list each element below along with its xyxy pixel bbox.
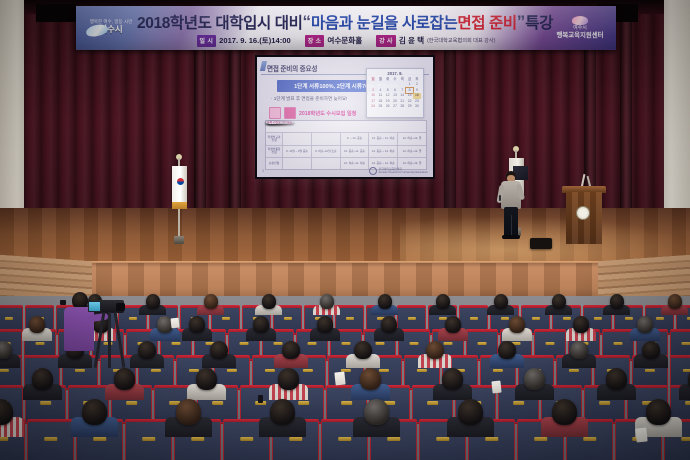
title-part-2: 마음과 눈길을 사로잡는 xyxy=(311,11,457,33)
seat-number-plate xyxy=(4,317,12,320)
audience-member-head xyxy=(498,341,516,360)
audience-member-head xyxy=(610,294,624,309)
seat-number-plate xyxy=(376,342,385,345)
camcorder-lens-icon xyxy=(116,303,125,311)
audience-member-shoulders xyxy=(679,384,690,400)
audience-member-head xyxy=(146,294,160,309)
seat-number-plate xyxy=(227,369,237,372)
audience-member-head xyxy=(138,341,156,360)
audience-member-head xyxy=(82,399,107,425)
slide-table-cell xyxy=(283,133,312,144)
seat-number-plate xyxy=(128,317,136,320)
projection-screen: 면접 준비의 중요성 1단계 서류100%, 2단계 시류70%+면접30% ·… xyxy=(255,55,435,179)
slide-footer: 3 한국대학교육협의회 Korean Council for Universit… xyxy=(262,167,428,175)
slide-title-accent xyxy=(260,61,267,71)
seat-number-plate xyxy=(0,437,8,441)
seat-number-plate xyxy=(444,342,453,345)
slide-table-cell xyxy=(312,133,341,144)
audience-member-head xyxy=(253,316,269,333)
flag-cloth xyxy=(172,166,187,202)
seat-number-plate xyxy=(500,317,508,320)
seat-number-plate xyxy=(583,437,597,441)
calendar-day: 27 xyxy=(391,104,398,109)
audience-member-head xyxy=(552,294,566,309)
seat-number-plate xyxy=(240,437,254,441)
presentation-slide: 면접 준비의 중요성 1단계 서류100%, 2단계 시류70%+면접30% ·… xyxy=(257,57,433,177)
happy-education-center-logo: 여수시 행복교육지원센터 xyxy=(547,10,613,46)
audience-member-head xyxy=(262,294,276,309)
slide-subsection-text: 2018학년도 수시모집 일정 xyxy=(299,110,356,117)
seat-number-plate xyxy=(308,342,317,345)
calendar-icon xyxy=(269,107,281,119)
event-banner: 행복한 여수, 일등 시민 여수시 2018학년도 대학입시 대비 “ 마음과 … xyxy=(76,6,616,50)
seat-number-plate xyxy=(513,401,525,405)
slide-table-cell: 9. 11월 ~ 9월 중순 xyxy=(283,146,312,157)
audience-member-head xyxy=(204,294,218,309)
audience-member-head xyxy=(364,399,389,425)
presenter-leg-split xyxy=(511,215,512,237)
tripod-leg-2 xyxy=(108,312,111,368)
calendar-day: 25 xyxy=(377,104,384,109)
seat-number-plate xyxy=(338,437,352,441)
audience-member-head xyxy=(196,368,217,390)
taeguk-icon xyxy=(177,178,184,185)
audience-member-head xyxy=(320,294,334,309)
calendar-day: 29 xyxy=(406,104,413,109)
presenter-shoes xyxy=(502,235,520,239)
seat-number-plate xyxy=(531,317,539,320)
slide-calendar-widget: 2017. 9. 일월화수목금토123456789101112131415161… xyxy=(366,68,424,118)
seat-number-plate xyxy=(534,437,548,441)
audience-member-head xyxy=(642,341,660,360)
seat-number-plate xyxy=(142,437,156,441)
banner-sub-place: 장 소 여수문화홀 xyxy=(305,35,363,47)
title-part-4: ” xyxy=(517,12,526,32)
audience-member-head xyxy=(189,316,205,333)
tag-icon xyxy=(284,107,296,119)
banner-sub-lecturer: 강 사 김 윤 택 (한국대학교육협의회 대표 강사) xyxy=(376,35,495,47)
seat-number-plate xyxy=(0,369,9,372)
audience-member-head xyxy=(494,294,508,309)
seat-number-plate xyxy=(126,401,138,405)
seat-number-plate xyxy=(569,369,579,372)
audience-phone xyxy=(258,395,263,403)
audience-member-head xyxy=(668,294,682,309)
seat-number-plate xyxy=(427,401,439,405)
seat-number-plate xyxy=(593,317,601,320)
tripod-leg-3 xyxy=(114,312,125,368)
calendar-day: 26 xyxy=(384,104,391,109)
audience-member-head xyxy=(176,399,201,425)
audience-member-head xyxy=(445,316,461,333)
lectern-emblem-icon xyxy=(576,206,590,220)
seat-number-plate xyxy=(685,401,690,405)
seat-number-plate xyxy=(682,342,690,345)
calendar-day: 28 xyxy=(399,104,406,109)
sub-value-lecturer: 김 윤 택 xyxy=(399,35,424,46)
audience-member-head xyxy=(524,368,545,390)
seat-number-plate xyxy=(298,401,310,405)
lectern xyxy=(562,186,606,244)
sub-value-place: 여수문화홀 xyxy=(327,35,362,46)
title-part-1: “ xyxy=(302,12,311,32)
seat-number-plate xyxy=(469,317,477,320)
seat-number-plate xyxy=(75,369,85,372)
sub-tag-place: 장 소 xyxy=(305,35,325,47)
seat-number-plate xyxy=(342,342,351,345)
footer-logo-line2: Korean Council for University Education xyxy=(379,170,428,174)
audience-member-head xyxy=(570,341,588,360)
seat-number-plate xyxy=(686,317,690,320)
sub-value-date: 2017. 9. 16.(토)14:00 xyxy=(219,35,291,46)
seat-number-plate xyxy=(546,342,555,345)
camcorder-lcd-screen xyxy=(88,301,101,312)
seat-number-plate xyxy=(274,342,283,345)
audience-member-head xyxy=(29,316,45,333)
seat-number-plate xyxy=(289,437,303,441)
yeosu-city-logo: 행복한 여수, 일등 시민 여수시 xyxy=(80,9,142,45)
microphone-icon xyxy=(499,195,501,201)
logo-right-line2: 행복교육지원센터 xyxy=(556,32,603,39)
audience-member-head xyxy=(381,316,397,333)
seat-number-plate xyxy=(40,401,52,405)
seat-number-plate xyxy=(410,342,419,345)
seat-number-plate xyxy=(493,369,503,372)
audience-member-head xyxy=(32,368,53,390)
seat-number-plate xyxy=(407,317,415,320)
audience-member-head xyxy=(282,341,300,360)
calendar-month-label: 2017. 9. xyxy=(387,71,402,76)
slide-title: 면접 준비의 중요성 xyxy=(267,63,317,73)
auditorium-photo: 행복한 여수, 일등 시민 여수시 2018학년도 대학입시 대비 “ 마음과 … xyxy=(0,0,690,460)
ceiling-vent-left xyxy=(36,4,76,22)
slide-table-header-row: 구분원서접수 및 서류제출서류평가 / 1단계 발표면접 / 논술고사합격자 발… xyxy=(266,121,426,133)
presenter xyxy=(498,171,524,241)
seat-number-plate xyxy=(191,437,205,441)
camcorder-tripod xyxy=(92,300,126,370)
banner-title: 2018학년도 대학입시 대비 “ 마음과 눈길을 사로잡는 면접 준비 ” 특… xyxy=(148,9,542,34)
seat-number-plate xyxy=(341,401,353,405)
audience-member-head xyxy=(637,316,653,333)
audience-member-head xyxy=(646,399,671,425)
stage-floor-monitor xyxy=(530,238,552,249)
seat-number-plate xyxy=(212,401,224,405)
slide-table-cell: 10. 중순~11. 중순 xyxy=(341,146,370,157)
flag-stand xyxy=(174,236,184,244)
audience-member-head xyxy=(210,341,228,360)
seat-number-plate xyxy=(36,342,45,345)
audience-handout xyxy=(170,318,179,329)
slide-table-row-label: 학생부교과전형 xyxy=(266,133,283,144)
slide-table-row: 학생부교과전형9. ~ 10. 중순12. 중순 ~ 12. 하순12. 하순~… xyxy=(266,133,426,145)
audience-member-head xyxy=(606,368,627,390)
audience-member-head xyxy=(458,399,483,425)
seat-number-plate xyxy=(681,437,690,441)
slide-table-cell: 12. 하순~12. 말 xyxy=(398,133,426,144)
audience-member-head xyxy=(509,316,525,333)
calendar-day: 24 xyxy=(369,104,376,109)
seat-number-plate xyxy=(265,369,275,372)
seat-number-plate xyxy=(240,342,249,345)
camera-operator-shirt xyxy=(64,307,94,351)
audience-member-head xyxy=(378,294,392,309)
korean-national-flag xyxy=(168,158,192,246)
seat-number-plate xyxy=(387,437,401,441)
audience-member-head xyxy=(114,368,135,390)
seat-number-plate xyxy=(436,437,450,441)
seat-number-plate xyxy=(379,369,389,372)
seat-number-plate xyxy=(624,317,632,320)
audience-handout xyxy=(491,381,501,394)
auditorium-seat xyxy=(27,420,74,460)
slide-footer-logo: 한국대학교육협의회 Korean Council for University … xyxy=(369,167,428,175)
banner-subtitle: 일 시 2017. 9. 16.(토)14:00 장 소 여수문화홀 강 사 김… xyxy=(156,33,536,48)
swoosh-icon xyxy=(85,23,109,38)
slide-table-row-label: 학생부종합전형 xyxy=(266,146,283,157)
seat-number-plate xyxy=(93,437,107,441)
tripod-leg-1 xyxy=(94,312,105,368)
council-seal-icon xyxy=(369,167,377,175)
title-part-0: 2018학년도 대학입시 대비 xyxy=(137,11,302,33)
seat-number-plate xyxy=(645,369,655,372)
calendar-grid: 일월화수목금토123456789101112131415161718192021… xyxy=(369,77,420,109)
audience-member-head xyxy=(573,316,589,333)
sub-tag-date: 일 시 xyxy=(197,35,217,47)
seat-number-plate xyxy=(417,369,427,372)
seat-number-plate xyxy=(478,342,487,345)
audience-member-head xyxy=(354,341,372,360)
audience-handout xyxy=(635,427,647,442)
audience-member-head xyxy=(552,399,577,425)
seat-number-plate xyxy=(345,317,353,320)
audience-member-head xyxy=(426,341,444,360)
slide-table-cell: 12. 중순 ~ 12. 하순 xyxy=(369,133,398,144)
seat-number-plate xyxy=(562,317,570,320)
audience-member-head xyxy=(317,316,333,333)
seat-number-plate xyxy=(283,317,291,320)
audience-member-head xyxy=(360,368,381,390)
seat-number-plate xyxy=(485,437,499,441)
seat-number-plate xyxy=(655,317,663,320)
audience-handout xyxy=(334,372,345,386)
audience-member-head xyxy=(442,368,463,390)
seat-number-plate xyxy=(151,369,161,372)
sub-tag-lecturer: 강 사 xyxy=(376,35,396,47)
slide-table-cell: 9. 하순~10월 초순 xyxy=(312,146,341,157)
slide-table-cell: 12. 중순 ~ 12. 하순 xyxy=(369,146,398,157)
seat-number-plate xyxy=(614,342,623,345)
seat-number-plate xyxy=(44,437,58,441)
sub-note-lecturer: (한국대학교육협의회 대표 강사) xyxy=(427,37,495,44)
slide-table-header-cell: 등록 기간 xyxy=(266,121,279,124)
slide-schedule-table: 구분원서접수 및 서류제출서류평가 / 1단계 발표면접 / 논술고사합격자 발… xyxy=(265,120,427,170)
seat-number-plate xyxy=(172,342,181,345)
slide-table-row: 학생부종합전형9. 11월 ~ 9월 중순9. 하순~10월 초순10. 중순~… xyxy=(266,146,426,158)
slide-page-number: 3 xyxy=(262,169,264,173)
banner-sub-date: 일 시 2017. 9. 16.(토)14:00 xyxy=(197,35,291,47)
audience-member-head xyxy=(436,294,450,309)
seat-number-plate xyxy=(599,401,611,405)
calendar-day: 30 xyxy=(413,104,420,109)
slide-table-cell: 9. ~ 10. 중순 xyxy=(341,133,370,144)
title-part-3: 면접 준비 xyxy=(457,11,516,33)
logo-left-tagline: 행복한 여수, 일등 시민 xyxy=(90,20,133,25)
flag-fringe xyxy=(172,202,187,209)
seat-number-plate xyxy=(221,317,229,320)
audience-member-head xyxy=(278,368,299,390)
slide-table-cell: 12. 하순~12. 말 xyxy=(398,146,426,157)
seat-number-plate xyxy=(303,369,313,372)
audience-member-head xyxy=(270,399,295,425)
